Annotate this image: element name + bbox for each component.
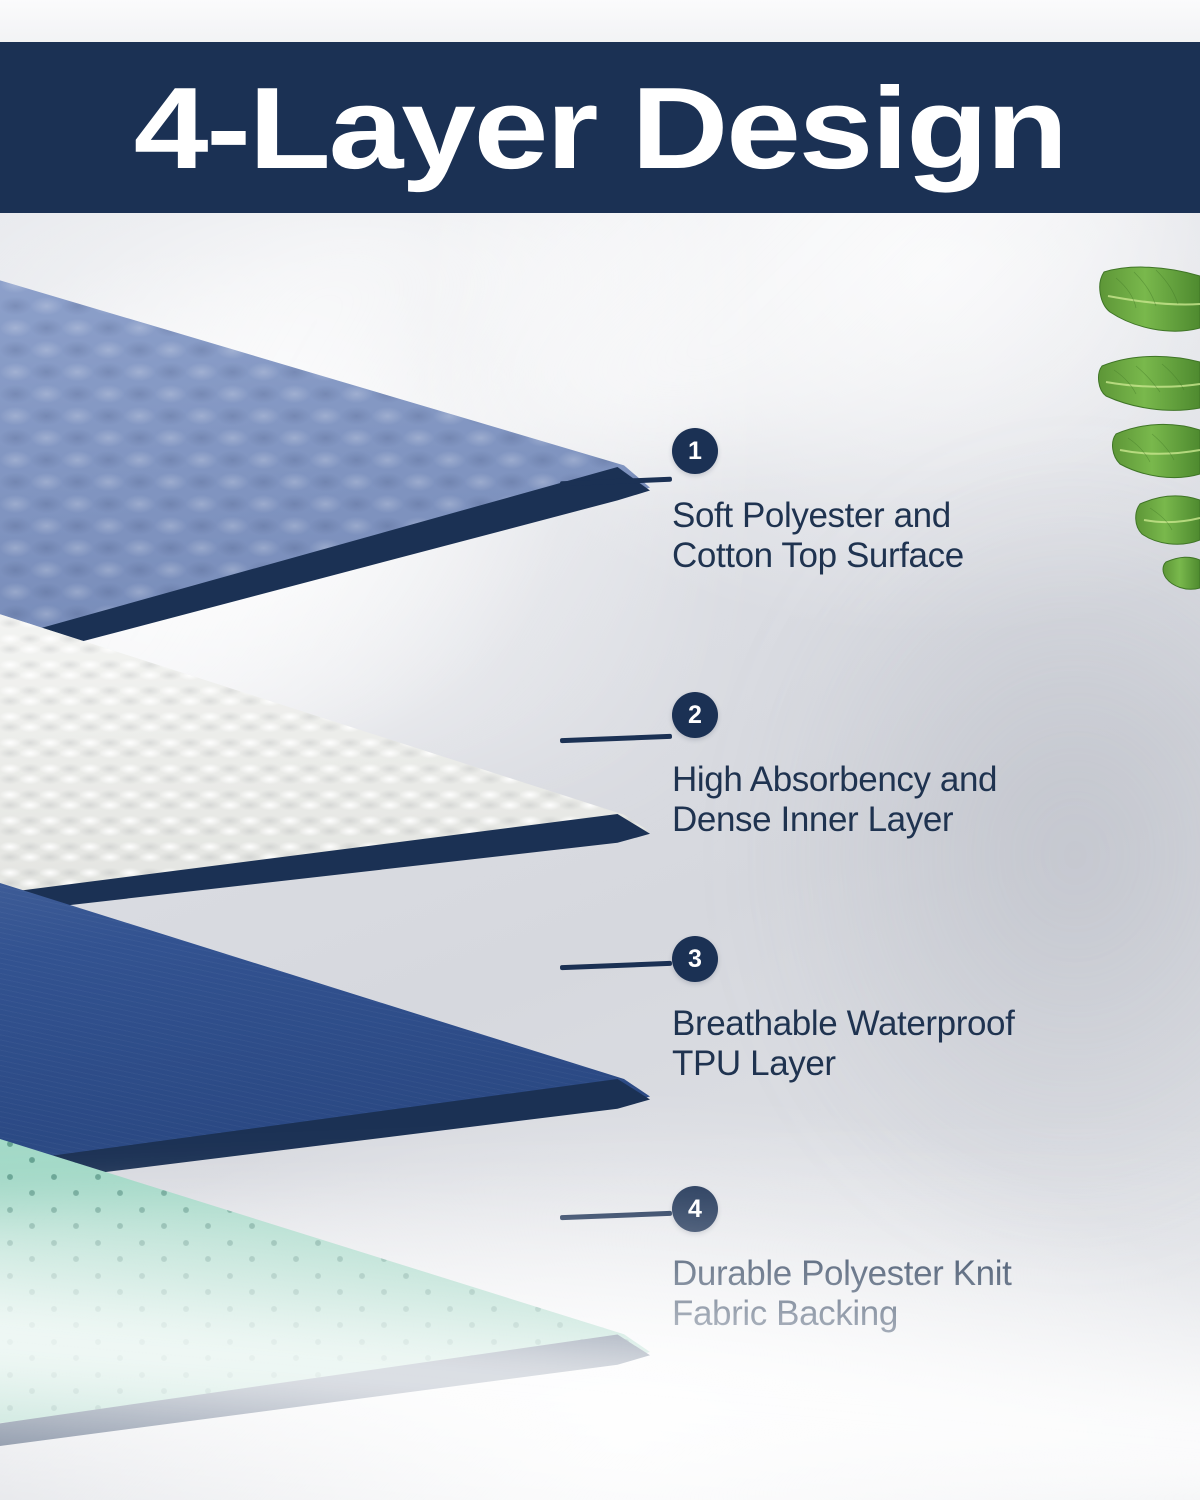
callout-badge-2: 2 xyxy=(672,692,718,738)
header-banner: 4-Layer Design xyxy=(0,42,1200,213)
fabric-layer-1 xyxy=(0,273,650,643)
callout-label-1: Soft Polyester and Cotton Top Surface xyxy=(672,496,1142,576)
callout-label-2: High Absorbency and Dense Inner Layer xyxy=(672,760,1142,840)
callout-badge-1: 1 xyxy=(672,428,718,474)
callout-label-3: Breathable Waterproof TPU Layer xyxy=(672,1004,1142,1084)
fabric-layer-1-surface xyxy=(0,273,650,643)
callout-badge-3: 3 xyxy=(672,936,718,982)
infographic-canvas: 4-Layer Design xyxy=(0,0,1200,1500)
page-title: 4-Layer Design xyxy=(134,70,1066,186)
callout-3: 3 Breathable Waterproof TPU Layer xyxy=(672,936,1142,1084)
callout-2: 2 High Absorbency and Dense Inner Layer xyxy=(672,692,1142,840)
top-strip xyxy=(0,0,1200,42)
callout-1: 1 Soft Polyester and Cotton Top Surface xyxy=(672,428,1142,576)
